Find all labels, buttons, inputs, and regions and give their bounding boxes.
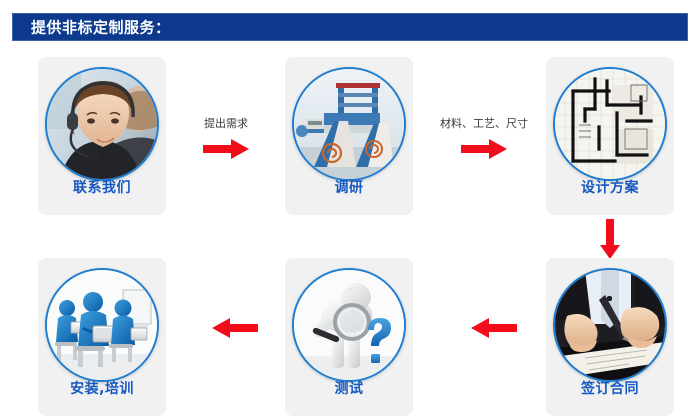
arrow-left-icon [212, 318, 258, 338]
connector-research-to-design: 材料、工艺、尺寸 [424, 115, 544, 163]
step-image-circle [553, 268, 667, 382]
headset-agent-photo-icon [47, 69, 157, 179]
magnifier-question-figure-icon [294, 270, 404, 380]
flow-step-contact[interactable]: 联系我们 [38, 57, 166, 215]
step-label: 调研 [285, 177, 413, 197]
flow-step-testing[interactable]: 测试 [285, 258, 413, 416]
connector-design-to-contract [598, 219, 622, 263]
step-image-circle [553, 67, 667, 181]
flow-step-training[interactable]: 安装,培训 [38, 258, 166, 416]
flow-step-research[interactable]: 调研 [285, 57, 413, 215]
step-label: 安装,培训 [38, 378, 166, 398]
flow-step-contract[interactable]: 签订合同 [546, 258, 674, 416]
flow-step-design[interactable]: 设计方案 [546, 57, 674, 215]
classroom-training-figures-icon [47, 270, 157, 380]
step-label: 测试 [285, 378, 413, 398]
step-image-circle [292, 67, 406, 181]
arrow-down-icon [600, 219, 620, 259]
connector-caption: 提出需求 [172, 115, 280, 131]
connector-contact-to-research: 提出需求 [172, 115, 280, 163]
printing-machine-photo-icon [294, 69, 404, 179]
signing-contract-photo-icon [555, 270, 665, 380]
page-header-banner: 提供非标定制服务： [12, 13, 688, 41]
step-label: 联系我们 [38, 177, 166, 197]
arrow-left-icon [471, 318, 517, 338]
step-image-circle [292, 268, 406, 382]
page-title: 提供非标定制服务： [31, 17, 171, 38]
step-image-circle [45, 67, 159, 181]
step-label: 签订合同 [546, 378, 674, 398]
connector-testing-to-training [185, 318, 285, 342]
floor-plan-blueprint-icon [555, 69, 665, 179]
arrow-right-icon [203, 139, 249, 159]
arrow-right-icon [461, 139, 507, 159]
connector-contract-to-testing [444, 318, 544, 342]
step-label: 设计方案 [546, 177, 674, 197]
step-image-circle [45, 268, 159, 382]
connector-caption: 材料、工艺、尺寸 [424, 115, 544, 131]
